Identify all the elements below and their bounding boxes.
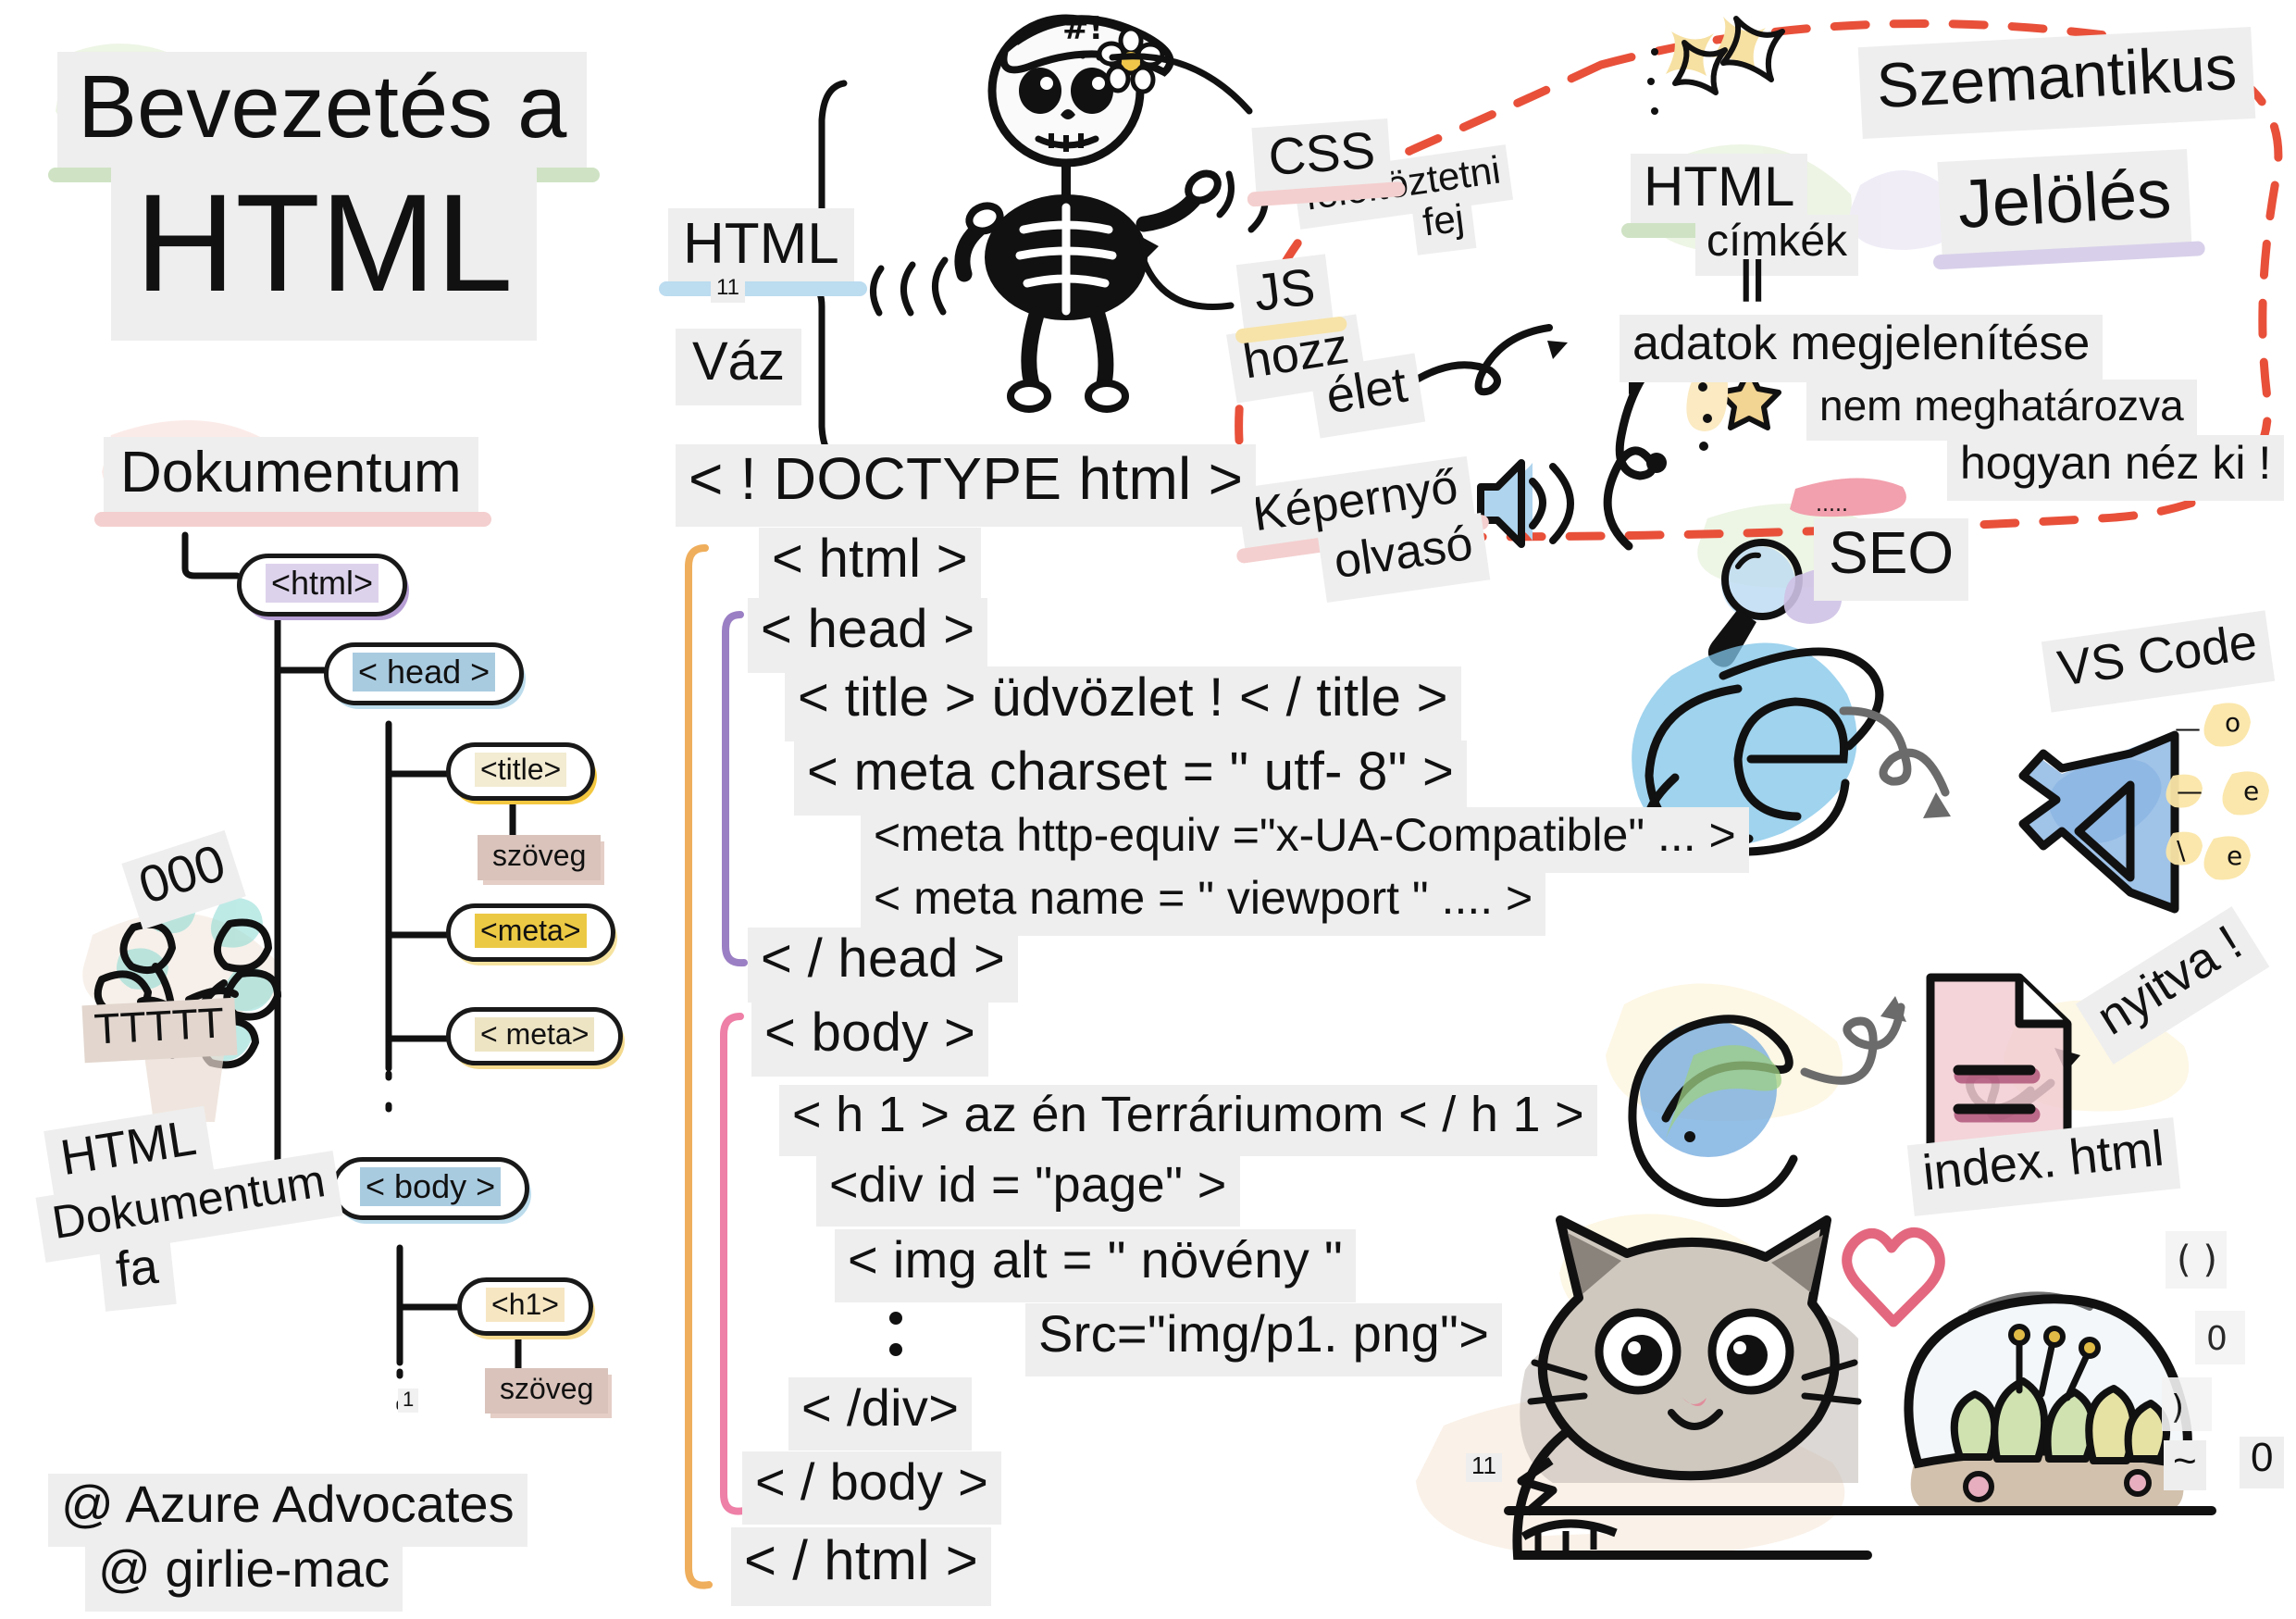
semantic-heading-line1: Szemantikus <box>1858 27 2256 140</box>
code-line-7: < / head > <box>748 928 1018 1003</box>
tree-node-head[interactable]: < head > <box>324 642 524 705</box>
tree-node-h1[interactable]: <h1> <box>457 1277 593 1336</box>
code-line-11: < img alt = " növény " <box>835 1229 1356 1302</box>
css-label: CSS <box>1252 118 1393 199</box>
code-line-3: < title > üdvözlet ! < / title > <box>785 666 1461 741</box>
magnifier-icon <box>1708 542 1799 667</box>
code-line-5: <meta http-equiv ="x-UA-Compatible" ... … <box>861 807 1749 873</box>
code-line-4: < meta charset = " utf- 8" > <box>794 741 1467 816</box>
seo-label: SEO <box>1814 518 1968 601</box>
svg-text:( ): ( ) <box>2177 1239 2217 1281</box>
code-line-9: < h 1 > az én Terráriumom < / h 1 > <box>779 1085 1597 1156</box>
svg-text:.....: ..... <box>1816 493 1848 517</box>
nyitva-label: nyitva ! <box>2076 906 2269 1065</box>
svg-text:o: o <box>2225 707 2240 738</box>
html-tags-sublabel: címkék <box>1695 215 1858 276</box>
plant-pot-label: TTTTT <box>81 998 237 1064</box>
tree-node-html-label: <html> <box>266 564 379 603</box>
credits-line2: @ girlie-mac <box>85 1538 403 1612</box>
code-line-15: < / html > <box>731 1527 991 1606</box>
js-label: JS <box>1236 254 1334 335</box>
code-line-6: < meta name = " viewport " .... > <box>861 870 1545 936</box>
code-line-14: < / body > <box>742 1451 1001 1525</box>
code-line-12: Src="img/p1. png"> <box>1025 1303 1502 1376</box>
tree-node-body[interactable]: < body > <box>331 1157 529 1220</box>
tree-node-head-label: < head > <box>353 653 495 691</box>
svg-text:e: e <box>2227 841 2242 871</box>
tree-caption-line3: fa <box>98 1235 176 1311</box>
credits-line1: @ Azure Advocates <box>48 1474 527 1547</box>
svg-text:): ) <box>2171 1389 2184 1426</box>
tree-node-meta-1[interactable]: <meta> <box>446 903 615 962</box>
code-line-1: < html > <box>759 528 981 603</box>
corner-tilde-label: ~ <box>2164 1440 2206 1490</box>
equals-symbol: || <box>1740 252 1765 303</box>
tree-node-title-text-label: szöveg <box>492 839 586 872</box>
how-it-looks-label: hogyan néz ki ! <box>1947 435 2284 501</box>
page-title-line2: HTML <box>111 165 537 341</box>
tree-node-meta-1-label: <meta> <box>475 914 587 948</box>
svg-text:—: — <box>2175 713 2201 743</box>
tree-node-title-text: szöveg <box>478 835 601 880</box>
not-defined-label: nem meghatározva <box>1806 380 2197 441</box>
svg-text:—: — <box>2177 776 2203 806</box>
tree-node-h1-text-label: szöveg <box>500 1372 593 1405</box>
tree-node-meta-2[interactable]: < meta> <box>446 1007 623 1065</box>
svg-text:0: 0 <box>2206 1320 2228 1358</box>
vscode-label: VS Code <box>2042 610 2275 712</box>
tree-node-title-label: <title> <box>475 753 566 787</box>
plant-top-label: 000 <box>121 830 246 929</box>
corner-zero-label: 0 <box>2240 1437 2284 1488</box>
code-line-0: < ! DOCTYPE html > <box>676 444 1256 527</box>
tree-node-body-label: < body > <box>360 1167 501 1206</box>
tree-node-html[interactable]: <html> <box>237 554 407 616</box>
semantic-heading-line2: Jelölés <box>1937 149 2192 262</box>
code-line-10: <div id = "page" > <box>816 1155 1240 1227</box>
skeleton-vaz-label: Váz <box>676 329 801 405</box>
sketchnote-canvas: Bevezetés a HTML HTML 11 Váz <box>0 0 2296 1619</box>
skeleton-html-sublabel: 11 <box>711 276 745 303</box>
page-title-line1: Bevezetés a <box>57 52 587 175</box>
cat-page-number: 11 <box>1466 1453 1502 1482</box>
code-line-13: < /div> <box>788 1377 972 1451</box>
tree-node-h1-text: szöveg <box>485 1368 608 1414</box>
tree-page-number: 1 <box>398 1389 418 1413</box>
index-html-label: index. html <box>1907 1117 2181 1215</box>
code-line-8: < body > <box>751 1002 988 1077</box>
skeleton-html-label: HTML <box>668 208 854 289</box>
svg-text:e: e <box>2243 776 2259 806</box>
tree-node-title[interactable]: <title> <box>446 742 595 801</box>
svg-text:\: \ <box>2177 835 2186 866</box>
tree-node-h1-label: <h1> <box>486 1288 565 1322</box>
css-note-head-label: fej <box>1411 193 1477 255</box>
svg-text:#!: #! <box>1062 10 1103 47</box>
document-tree-heading: Dokumentum <box>104 437 478 519</box>
tree-node-meta-2-label: < meta> <box>475 1017 594 1052</box>
data-display-label: adatok megjelenítése <box>1620 315 2103 382</box>
code-line-2: < head > <box>748 598 987 673</box>
